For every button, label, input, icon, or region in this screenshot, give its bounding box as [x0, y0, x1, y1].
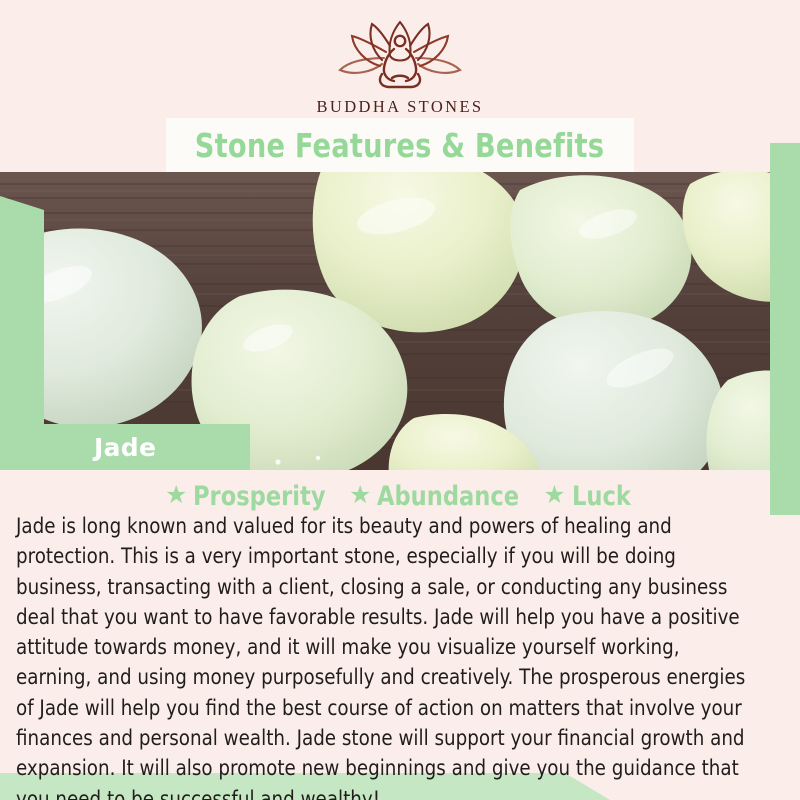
benefits-row: ★ Prosperity ★ Abundance ★ Luck [0, 481, 800, 512]
stone-name-text: Jade [94, 433, 156, 462]
right-green-accent-bar [770, 143, 800, 515]
benefit-item-prosperity: ★ Prosperity [165, 481, 336, 512]
brand-logo-block: BUDDHA STONES [0, 18, 800, 117]
benefit-label: Abundance [377, 481, 519, 512]
brand-name: BUDDHA STONES [0, 97, 800, 117]
stone-description: Jade is long known and valued for its be… [16, 512, 753, 800]
benefit-label: Prosperity [193, 481, 326, 512]
star-icon: ★ [543, 483, 565, 508]
lotus-meditation-icon [334, 18, 466, 92]
star-icon: ★ [349, 483, 371, 508]
bottom-right-notch [770, 773, 800, 800]
page-title: Stone Features & Benefits [195, 126, 604, 165]
benefit-item-abundance: ★ Abundance [349, 481, 530, 512]
stone-name-badge: Jade [22, 424, 250, 470]
benefit-label: Luck [572, 481, 631, 512]
header-banner: Stone Features & Benefits [166, 118, 634, 172]
stone-info-card: BUDDHA STONES [0, 0, 800, 800]
star-icon: ★ [165, 483, 187, 508]
benefit-item-luck: ★ Luck [543, 481, 635, 512]
